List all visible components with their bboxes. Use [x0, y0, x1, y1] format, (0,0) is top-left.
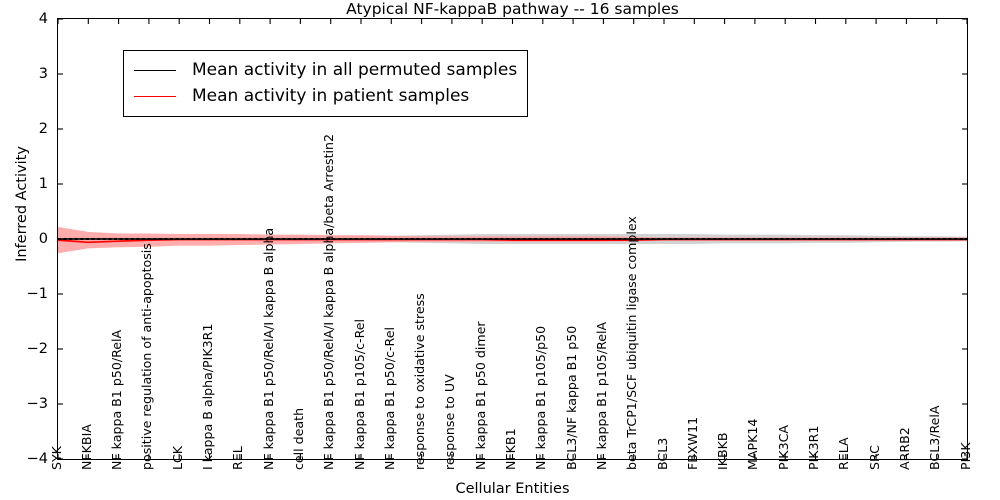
legend-label-patient: Mean activity in patient samples	[192, 86, 469, 106]
y-tick-label: 4	[10, 11, 48, 27]
y-tick-label: −3	[10, 396, 48, 412]
x-axis-label: Cellular Entities	[57, 481, 968, 497]
y-axis-label: Inferred Activity	[14, 104, 30, 304]
y-tick-label: −4	[10, 451, 48, 467]
legend-item-patient: Mean activity in patient samples	[134, 83, 517, 109]
legend-swatch-patient	[134, 96, 176, 97]
legend-item-permuted: Mean activity in all permuted samples	[134, 57, 517, 83]
plot-area: Mean activity in all permuted samples Me…	[57, 18, 968, 460]
legend-label-permuted: Mean activity in all permuted samples	[192, 60, 517, 80]
chart-figure: Atypical NF-kappaB pathway -- 16 samples…	[0, 0, 1000, 500]
chart-legend: Mean activity in all permuted samples Me…	[123, 50, 528, 117]
y-tick-label: −2	[10, 341, 48, 357]
chart-title: Atypical NF-kappaB pathway -- 16 samples	[57, 0, 968, 18]
legend-swatch-permuted	[134, 70, 176, 71]
y-tick-label: 3	[10, 66, 48, 82]
